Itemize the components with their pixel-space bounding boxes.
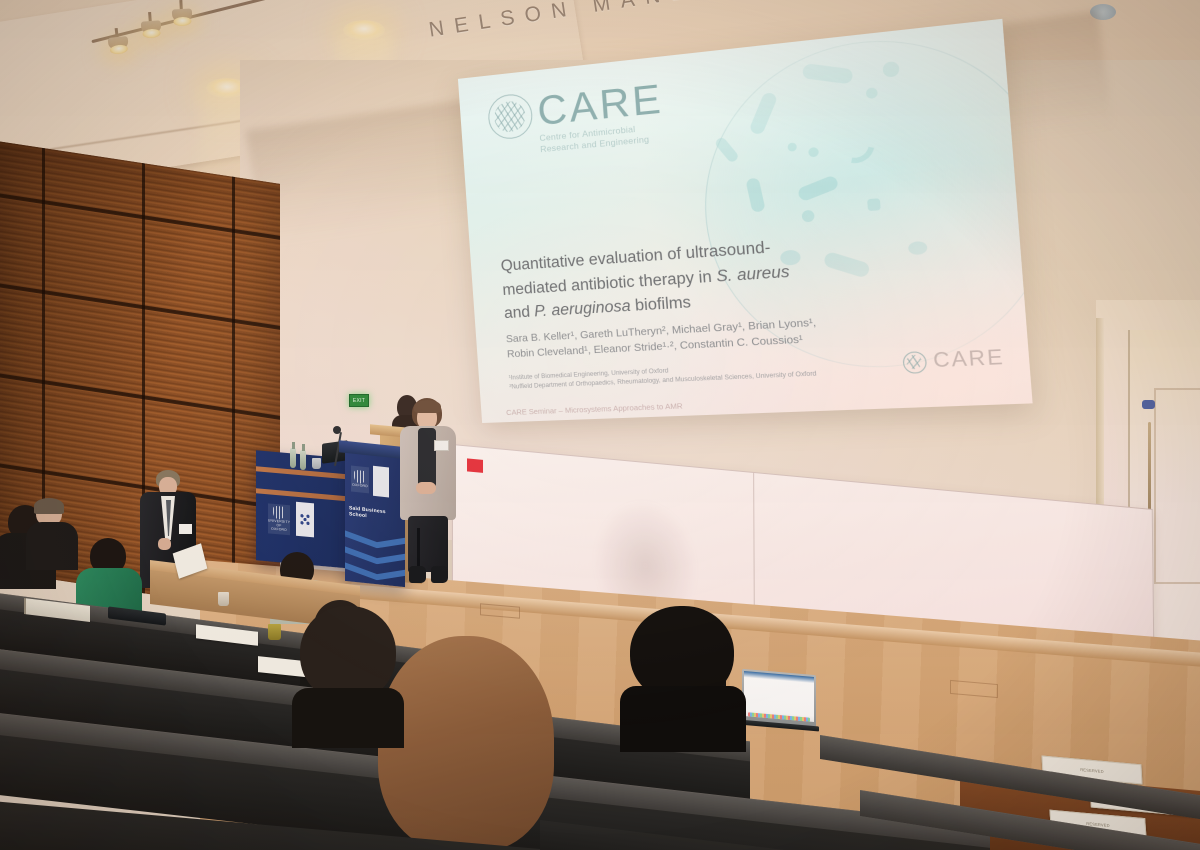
presenter-shoe: [409, 566, 426, 583]
exit-sign-label: EXIT: [353, 398, 365, 404]
namecard-label: RESERVED: [1080, 766, 1104, 773]
exit-sign: EXIT: [349, 394, 369, 407]
presenter-trousers: [408, 516, 448, 572]
track-spotlight-3: [171, 0, 192, 27]
care-logo-corner: CARE: [902, 347, 1005, 374]
attendee-hand: [158, 538, 171, 550]
presenter-fringe: [414, 400, 441, 413]
microphone-icon: [333, 426, 341, 434]
presenter-top: [418, 428, 436, 488]
diamond-pattern: [299, 512, 311, 527]
chevron: [345, 528, 405, 552]
oxford-crest-icon: UNIVERSITY OF OXFORD: [268, 503, 290, 535]
chevron: [345, 560, 405, 584]
spotlight-lens: [173, 17, 191, 27]
presenter-hands: [416, 482, 436, 494]
track-spotlight-2: [140, 11, 162, 38]
spotlight-lens: [109, 44, 128, 55]
open-laptop[interactable]: [742, 669, 816, 727]
door-panel: [1154, 388, 1200, 584]
water-bottle: [300, 450, 306, 470]
branded-lectern: OXFORD Saïd Business School: [345, 449, 405, 587]
crest-shield-icon: [273, 506, 285, 520]
presenter: [398, 398, 456, 586]
chevron-graphic: [345, 525, 405, 587]
drinking-glass: [218, 592, 229, 606]
projected-slide: CARE Centre for Antimicrobial Research a…: [458, 19, 1033, 423]
care-wordmark-corner: CARE: [933, 347, 1006, 371]
door-handle[interactable]: [1148, 422, 1151, 512]
seated-attendee: [80, 538, 142, 610]
crest-line2: OXFORD: [271, 528, 287, 533]
laptop-lid: [742, 669, 816, 727]
attendee-hair: [34, 498, 64, 514]
track-spotlight-1: [107, 27, 130, 55]
care-name-corner: CARE: [933, 347, 1006, 371]
water-bottle: [290, 448, 296, 468]
attendee-body: [620, 686, 746, 752]
care-roundel-icon: [486, 92, 533, 141]
chevron: [345, 544, 405, 568]
seated-attendee: [28, 500, 76, 570]
crest-line2: OXFORD: [352, 484, 368, 489]
said-diamonds-icon: [296, 502, 314, 538]
spotlight-lens: [142, 28, 161, 38]
whiteboard-magnet-icon: [467, 458, 483, 472]
lecture-theatre-photo: NELSON MANDELA LECTURE THEA: [0, 0, 1200, 850]
presenter-name-badge: [434, 440, 449, 451]
foreground-attendee: [630, 606, 738, 746]
drinking-glass: [268, 624, 281, 640]
attendee-hair: [378, 636, 554, 850]
projection-screen: CARE Centre for Antimicrobial Research a…: [458, 19, 1033, 423]
attendee-body: [292, 688, 404, 748]
oxford-crest-icon: OXFORD: [351, 465, 369, 493]
care-wordmark: CARE Centre for Antimicrobial Research a…: [536, 78, 666, 155]
said-diamonds-icon: [373, 466, 389, 498]
attendee-body: [26, 522, 78, 570]
door-plaque-icon: [1142, 400, 1155, 409]
presenter-shoe: [431, 566, 448, 583]
drinking-glass: [312, 458, 321, 469]
attendee-name-badge: [179, 524, 192, 534]
crest-shield-icon: [354, 470, 366, 484]
business-school-label: Saïd Business School: [349, 505, 403, 523]
care-roundel-icon: [902, 351, 927, 374]
foreground-attendee: [300, 606, 396, 736]
